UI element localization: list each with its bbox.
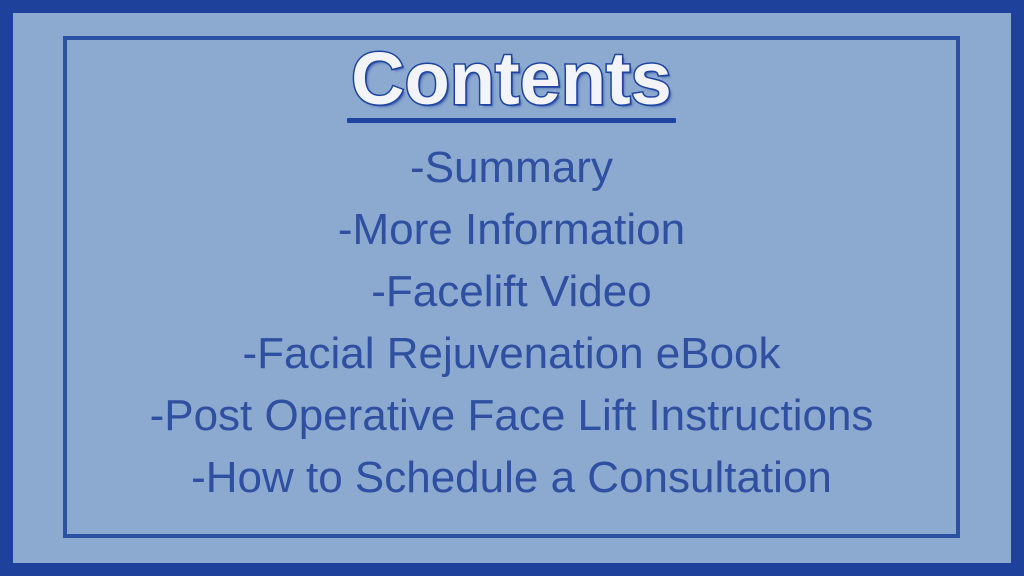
list-item[interactable]: -More Information (63, 199, 960, 261)
list-item[interactable]: -Facial Rejuvenation eBook (63, 323, 960, 385)
page-title: Contents (347, 41, 676, 116)
title-block: Contents (63, 41, 960, 123)
slide-content: Contents -Summary -More Information -Fac… (63, 36, 960, 538)
list-item[interactable]: -Facelift Video (63, 261, 960, 323)
contents-list: -Summary -More Information -Facelift Vid… (63, 137, 960, 509)
slide: Contents -Summary -More Information -Fac… (0, 0, 1024, 576)
list-item[interactable]: -How to Schedule a Consultation (63, 447, 960, 509)
list-item[interactable]: -Summary (63, 137, 960, 199)
list-item[interactable]: -Post Operative Face Lift Instructions (63, 385, 960, 447)
